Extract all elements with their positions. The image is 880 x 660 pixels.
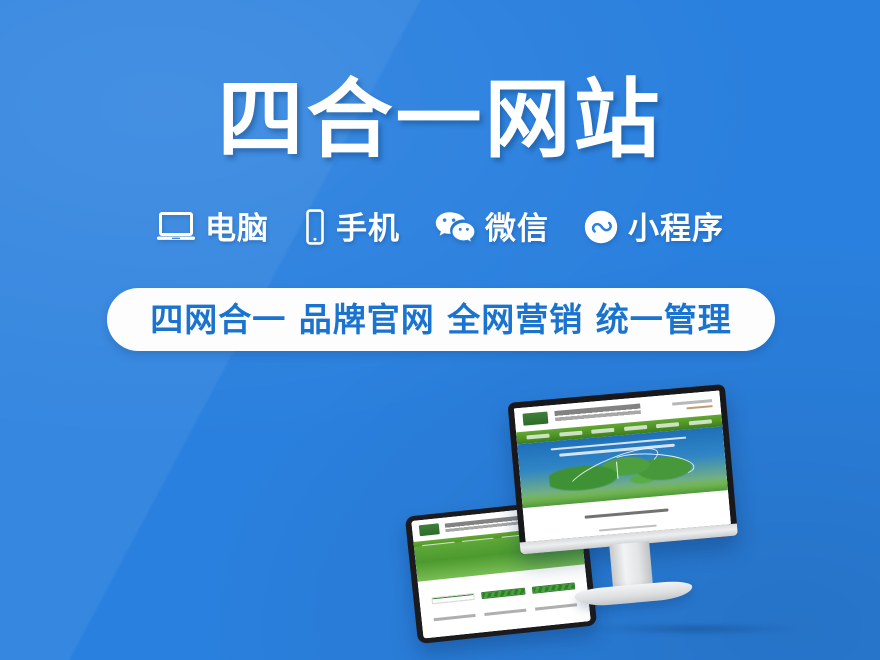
device-mockup-group (395, 385, 880, 660)
mobile-phone-icon (303, 209, 327, 249)
promo-banner: 四合一网站 电脑 手机 (0, 0, 880, 660)
feature-item-mobile[interactable]: 手机 (303, 203, 400, 255)
feature-label-wechat: 微信 (485, 212, 549, 246)
feature-item-desktop[interactable]: 电脑 (156, 203, 269, 255)
tablet-card-1 (431, 593, 475, 605)
wechat-icon (434, 210, 476, 248)
site-logo-text (555, 404, 641, 423)
feature-row: 电脑 手机 (0, 203, 880, 255)
monitor-bezel (507, 384, 737, 554)
page-title: 四合一网站 (0, 72, 880, 168)
tagline-text: 四网合一 品牌官网 全网营销 统一管理 (150, 302, 731, 338)
feature-label-miniprogram: 小程序 (628, 212, 724, 246)
feature-label-mobile: 手机 (336, 212, 400, 246)
monitor-screen (514, 391, 731, 542)
desktop-monitor-mockup (507, 384, 737, 554)
mini-program-icon (583, 209, 619, 249)
site-logo (523, 411, 549, 426)
desktop-website-preview (514, 391, 731, 542)
tablet-card-2 (481, 588, 525, 600)
feature-item-wechat[interactable]: 微信 (434, 203, 549, 255)
tablet-card-3 (532, 583, 576, 595)
tagline-pill: 四网合一 品牌官网 全网营销 统一管理 (107, 288, 775, 351)
laptop-icon (156, 210, 196, 248)
feature-item-miniprogram[interactable]: 小程序 (583, 203, 724, 255)
feature-label-desktop: 电脑 (205, 212, 269, 246)
tablet-site-logo (419, 523, 440, 536)
